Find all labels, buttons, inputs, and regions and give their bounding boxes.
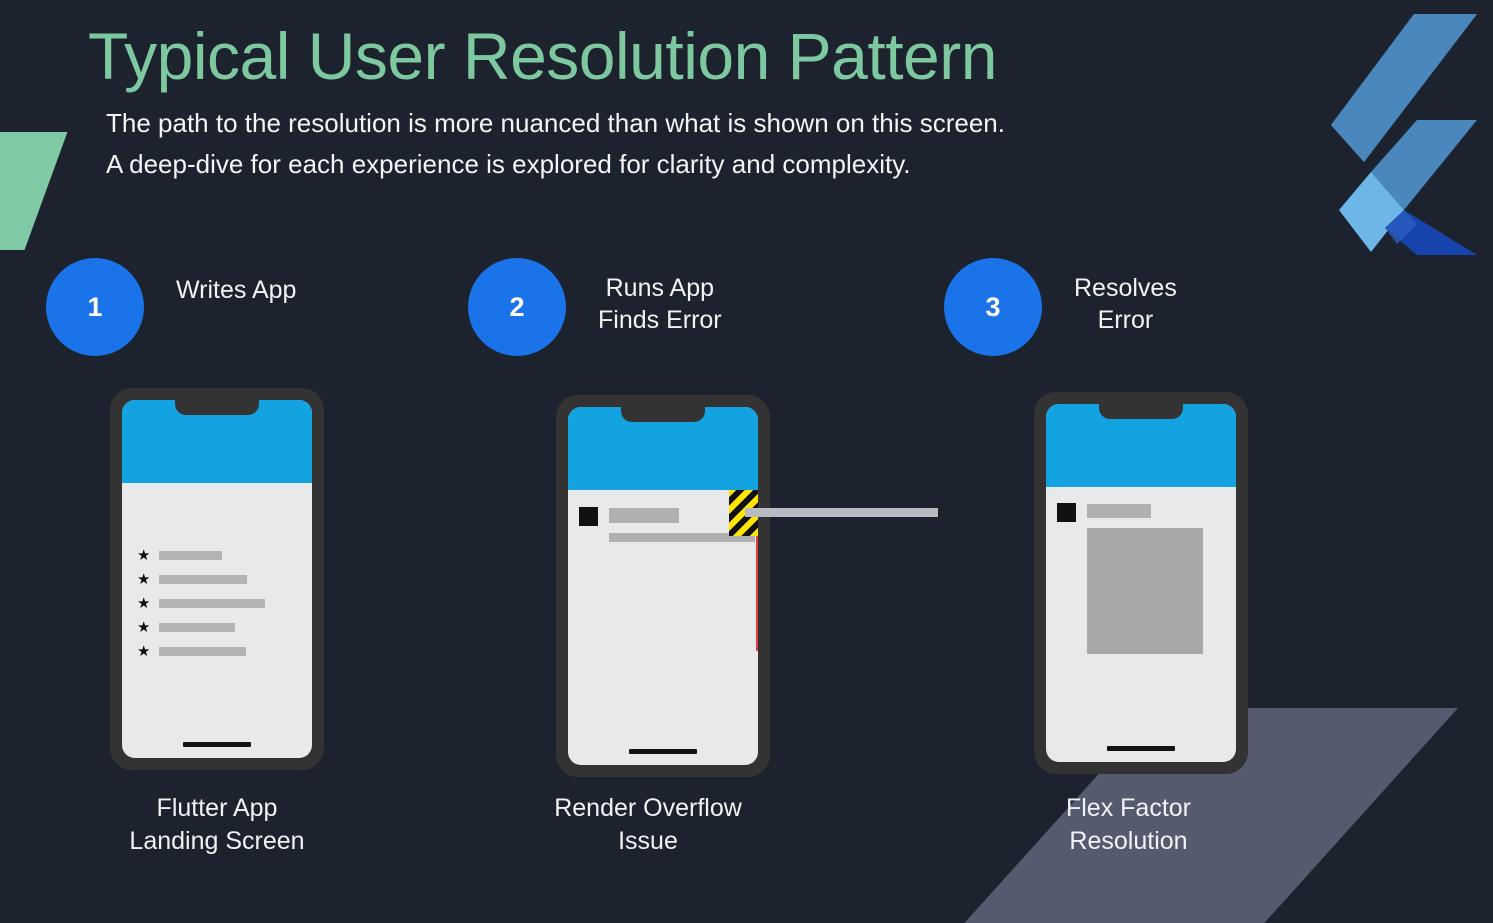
- placeholder-bar: [159, 647, 246, 656]
- phone-2-body: [568, 490, 758, 765]
- phone-1-body: ★ ★ ★ ★ ★: [122, 483, 312, 758]
- caption-flutter-app-landing-screen: Flutter App Landing Screen: [127, 792, 307, 857]
- step-1-label: Writes App: [176, 274, 296, 306]
- step-2-number-badge: 2: [468, 258, 566, 356]
- caption-1-line-2: Landing Screen: [127, 825, 307, 858]
- phone-3-body: [1046, 487, 1236, 762]
- slide-canvas: Typical User Resolution Pattern The path…: [0, 0, 1493, 923]
- phone-1-notch: [175, 400, 259, 415]
- step-1-number-badge: 1: [46, 258, 144, 356]
- green-parallelogram-decoration: [0, 132, 67, 250]
- caption-3-line-1: Flex Factor: [1036, 792, 1221, 825]
- caption-render-overflow-issue: Render Overflow Issue: [553, 792, 743, 857]
- placeholder-bar: [159, 623, 235, 632]
- star-icon: ★: [137, 548, 155, 563]
- star-icon: ★: [137, 596, 155, 611]
- phone-3-notch: [1099, 404, 1183, 419]
- caption-flex-factor-resolution: Flex Factor Resolution: [1036, 792, 1221, 857]
- star-icon: ★: [137, 572, 155, 587]
- phone-1-screen: ★ ★ ★ ★ ★: [122, 400, 312, 758]
- list-item: ★: [137, 548, 265, 563]
- step-2-label-line-1: Runs App: [598, 272, 722, 304]
- list-item: ★: [137, 596, 265, 611]
- overflow-callout-line: [745, 508, 938, 517]
- leading-square-icon: [579, 507, 598, 526]
- header: Typical User Resolution Pattern The path…: [88, 22, 1005, 185]
- star-icon: ★: [137, 644, 155, 659]
- list-item: ★: [137, 572, 265, 587]
- step-3: 3 Resolves Error: [944, 258, 1177, 356]
- phone-2-screen: [568, 407, 758, 765]
- step-3-label-line-2: Error: [1074, 304, 1177, 336]
- placeholder-bar: [159, 599, 265, 608]
- phone-2-notch: [621, 407, 705, 422]
- title-placeholder-bar: [609, 508, 679, 523]
- list-item: ★: [137, 620, 265, 635]
- step-1: 1 Writes App: [46, 258, 296, 356]
- phone-3-screen: [1046, 404, 1236, 762]
- phone-mockup-render-overflow-issue: [556, 395, 770, 777]
- caption-1-line-1: Flutter App: [127, 792, 307, 825]
- render-overflow-red-line: [756, 536, 758, 651]
- phone-1-home-indicator: [183, 742, 251, 747]
- leading-square-icon: [1057, 503, 1076, 522]
- phone-3-home-indicator: [1107, 746, 1175, 751]
- subtitle-line-1: The path to the resolution is more nuanc…: [106, 103, 1005, 144]
- step-2: 2 Runs App Finds Error: [468, 258, 722, 356]
- list-item: ★: [137, 644, 265, 659]
- placeholder-bar: [159, 551, 222, 560]
- phone-2-home-indicator: [629, 749, 697, 754]
- phone-mockup-flex-factor-resolution: [1034, 392, 1248, 774]
- step-1-label-line-1: Writes App: [176, 274, 296, 306]
- step-2-label-line-2: Finds Error: [598, 304, 722, 336]
- step-2-label: Runs App Finds Error: [598, 272, 722, 336]
- phone-3-appbar: [1046, 404, 1236, 487]
- caption-2-line-2: Issue: [553, 825, 743, 858]
- steps-row: 1 Writes App 2 Runs App Finds Error 3 Re…: [0, 258, 1493, 368]
- step-3-number-badge: 3: [944, 258, 1042, 356]
- star-icon: ★: [137, 620, 155, 635]
- phone-1-appbar: [122, 400, 312, 483]
- subtitle-block: The path to the resolution is more nuanc…: [106, 103, 1005, 185]
- caption-3-line-2: Resolution: [1036, 825, 1221, 858]
- phone-2-appbar: [568, 407, 758, 490]
- placeholder-bar: [159, 575, 247, 584]
- step-3-label: Resolves Error: [1074, 272, 1177, 336]
- subtitle-line-2: A deep-dive for each experience is explo…: [106, 144, 1005, 185]
- step-3-label-line-1: Resolves: [1074, 272, 1177, 304]
- caption-2-line-1: Render Overflow: [553, 792, 743, 825]
- title-placeholder-bar: [1087, 504, 1151, 518]
- resolved-content-block: [1087, 528, 1203, 654]
- phone-mockup-flutter-app-landing-screen: ★ ★ ★ ★ ★: [110, 388, 324, 770]
- page-title: Typical User Resolution Pattern: [88, 22, 1005, 91]
- flutter-logo-icon: [1309, 12, 1479, 257]
- phone-1-star-list: ★ ★ ★ ★ ★: [137, 548, 265, 668]
